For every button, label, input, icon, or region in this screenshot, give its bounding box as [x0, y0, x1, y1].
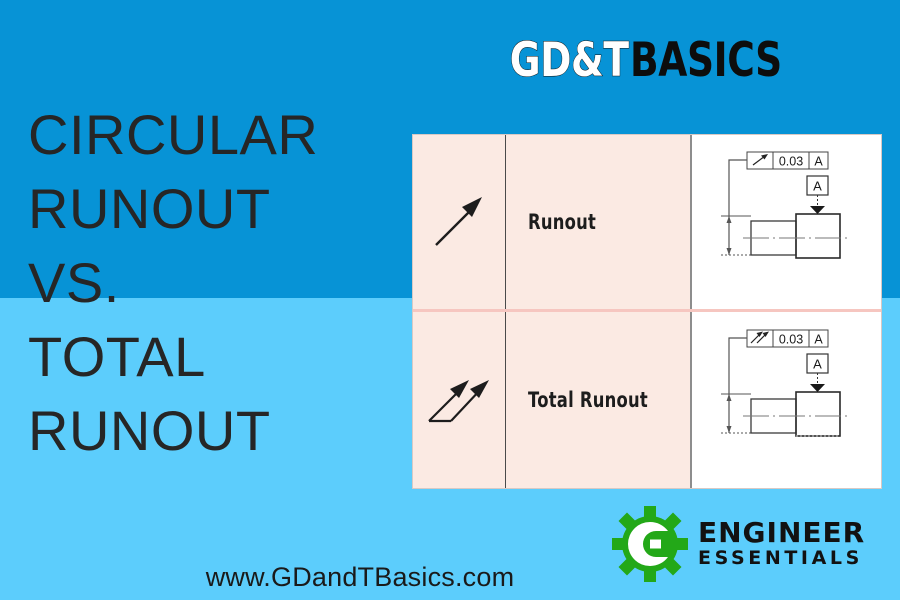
- circular-runout-symbol: [428, 191, 490, 253]
- datum-feature-symbol: A: [807, 176, 828, 214]
- datum-feature-symbol: A: [807, 354, 828, 392]
- title-line-2: RUNOUT: [28, 172, 398, 246]
- cell-drawing-circular-runout: 0.03 A: [692, 135, 881, 309]
- cell-drawing-total-runout: 0.03 A A: [692, 312, 881, 489]
- total-runout-symbol: [423, 369, 495, 431]
- table-row: Total Runout 0.03 A: [413, 312, 881, 489]
- datum-reference: A: [814, 332, 823, 346]
- table-row: Runout 0.03 A: [413, 135, 881, 312]
- poster-canvas: GD&T BASICS CIRCULAR RUNOUT VS. TOTAL RU…: [0, 0, 900, 600]
- datum-letter: A: [813, 356, 822, 371]
- cell-symbol-total-runout: [413, 312, 506, 489]
- circular-runout-drawing: 0.03 A: [699, 142, 874, 302]
- tolerance-value: 0.03: [779, 154, 803, 168]
- cell-symbol-circular-runout: [413, 135, 506, 309]
- title-line-1: CIRCULAR: [28, 98, 398, 172]
- cell-label-total-runout: Total Runout: [506, 312, 692, 489]
- label-text: Total Runout: [528, 388, 648, 412]
- logo-line-essentials: ESSENTIALS: [698, 547, 865, 570]
- logo-text-basics: BASICS: [630, 37, 782, 84]
- title-line-4: TOTAL: [28, 320, 398, 394]
- total-runout-drawing: 0.03 A A: [699, 320, 874, 480]
- datum-reference: A: [814, 154, 823, 168]
- logo-text-gdt: GD&T: [509, 37, 628, 84]
- runout-comparison-table: Runout 0.03 A: [412, 134, 882, 489]
- page-title: CIRCULAR RUNOUT VS. TOTAL RUNOUT: [28, 98, 398, 468]
- cell-label-runout: Runout: [506, 135, 692, 309]
- logo-line-engineer: ENGINEER: [698, 518, 865, 547]
- feature-control-frame: 0.03 A: [747, 330, 828, 347]
- tolerance-value: 0.03: [779, 332, 803, 346]
- label-text: Runout: [528, 210, 596, 234]
- website-url: www.GDandTBasics.com: [0, 562, 720, 593]
- feature-control-frame: 0.03 A: [747, 152, 828, 169]
- datum-letter: A: [813, 178, 822, 193]
- title-line-3: VS.: [28, 246, 398, 320]
- engineer-essentials-wordmark: ENGINEER ESSENTIALS: [698, 518, 865, 570]
- title-line-5: RUNOUT: [28, 394, 398, 468]
- gdt-basics-logo: GD&T BASICS: [500, 33, 820, 88]
